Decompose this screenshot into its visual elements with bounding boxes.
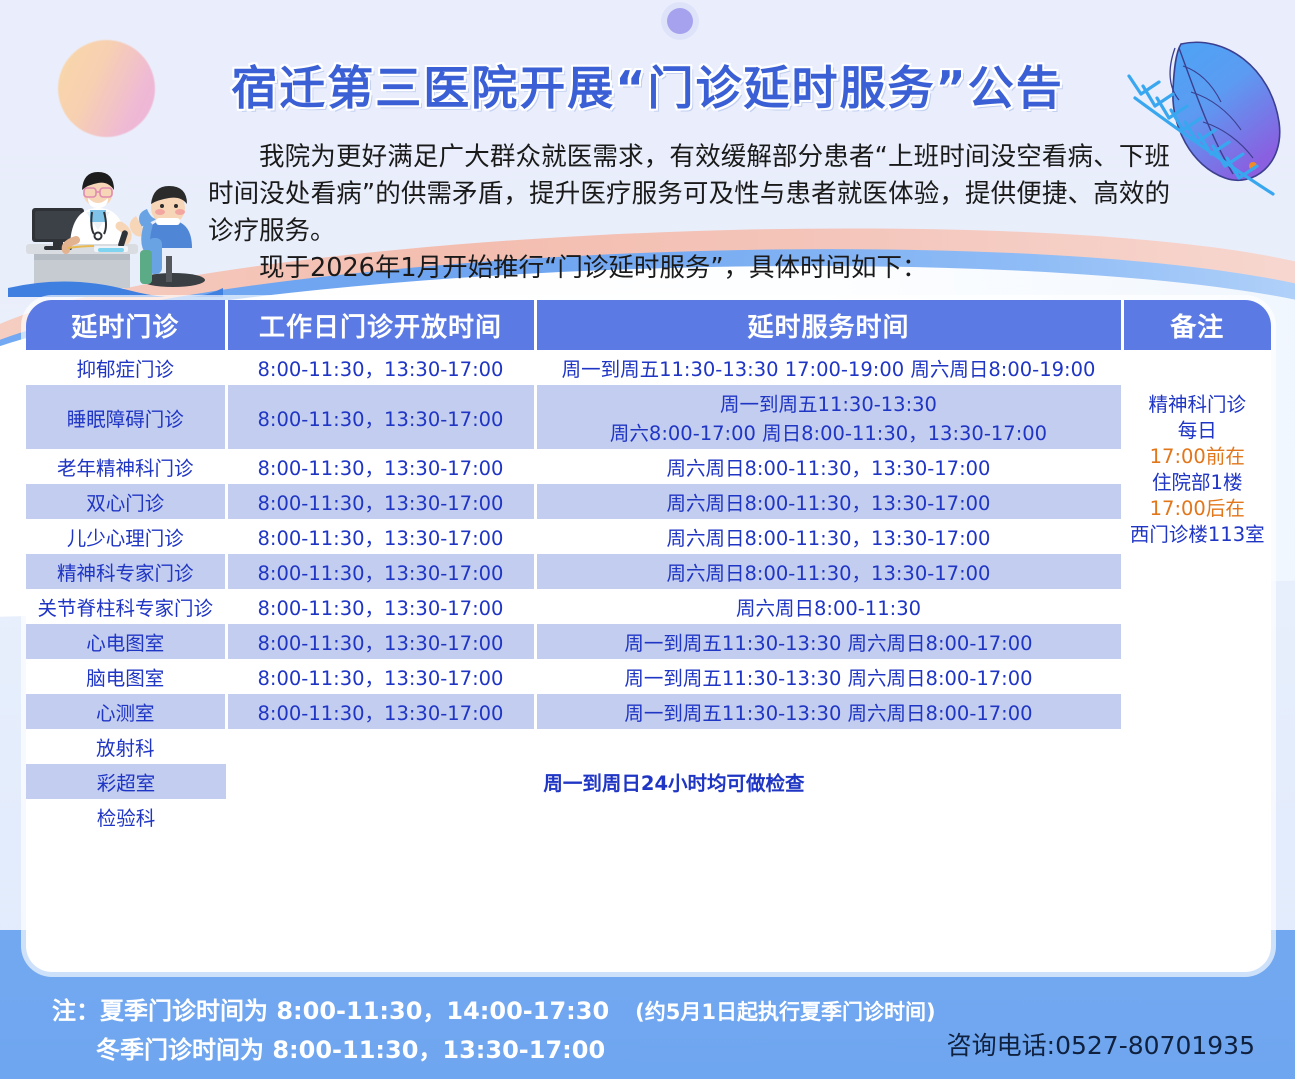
cell-remark: 精神科门诊 每日 17:00前在 住院部1楼 17:00后在 西门诊楼113室 [1122, 350, 1271, 589]
footer-note-winter: 冬季门诊时间为 8:00-11:30，13:30-17:00 [52, 1031, 605, 1069]
page-title: 宿迁第三医院开展“门诊延时服务”公告 [0, 52, 1295, 118]
schedule-table: 延时门诊 工作日门诊开放时间 延时服务时间 备注 抑郁症门诊 8:00-11:3… [26, 300, 1271, 834]
cell-extended-hours: 周一到周五11:30-13:30 周六周日8:00-17:00 [535, 694, 1122, 729]
cell-extended-hours: 周一到周五11:30-13:30 周六8:00-17:00 周日8:00-11:… [535, 385, 1122, 449]
cell-merged-note: 周一到周日24小时均可做检查 [226, 729, 1122, 834]
footer-note-label: 注： [52, 997, 100, 1025]
intro-paragraph-1: 我院为更好满足广大群众就医需求，有效缓解部分患者“上班时间没空看病、下班时间没处… [208, 139, 1170, 250]
column-header-weekday: 工作日门诊开放时间 [226, 300, 535, 350]
poster-root: 宿迁第三医院开展“门诊延时服务”公告 我院为更好满足广大群众就医需求，有效缓解部… [0, 0, 1295, 1079]
cell-dept: 双心门诊 [26, 484, 226, 519]
cell-extended-hours: 周六周日8:00-11:30，13:30-17:00 [535, 449, 1122, 484]
remark-line-2: 每日 [1126, 418, 1270, 444]
remark-line-1: 精神科门诊 [1126, 392, 1270, 418]
table-row: 关节脊柱科专家门诊 8:00-11:30，13:30-17:00 周六周日8:0… [26, 589, 1271, 624]
table-row: 双心门诊 8:00-11:30，13:30-17:00 周六周日8:00-11:… [26, 484, 1271, 519]
decorative-dot-purple [667, 8, 693, 34]
table-row: 放射科 周一到周日24小时均可做检查 [26, 729, 1271, 764]
table-header-row: 延时门诊 工作日门诊开放时间 延时服务时间 备注 [26, 300, 1271, 350]
cell-dept: 抑郁症门诊 [26, 350, 226, 385]
column-header-remark: 备注 [1122, 300, 1271, 350]
cell-dept: 儿少心理门诊 [26, 519, 226, 554]
cell-weekday-hours: 8:00-11:30，13:30-17:00 [226, 694, 535, 729]
column-header-dept: 延时门诊 [26, 300, 226, 350]
cell-weekday-hours: 8:00-11:30，13:30-17:00 [226, 385, 535, 449]
cell-extended-hours: 周六周日8:00-11:30，13:30-17:00 [535, 554, 1122, 589]
footer-note-summer: 夏季门诊时间为 8:00-11:30，14:00-17:30 [100, 997, 609, 1025]
cell-dept: 关节脊柱科专家门诊 [26, 589, 226, 624]
cell-weekday-hours: 8:00-11:30，13:30-17:00 [226, 589, 535, 624]
cell-dept: 睡眠障碍门诊 [26, 385, 226, 449]
cell-dept: 彩超室 [26, 764, 226, 799]
cell-extended-hours: 周六周日8:00-11:30，13:30-17:00 [535, 519, 1122, 554]
table-row: 心电图室 8:00-11:30，13:30-17:00 周一到周五11:30-1… [26, 624, 1271, 659]
table-row: 儿少心理门诊 8:00-11:30，13:30-17:00 周六周日8:00-1… [26, 519, 1271, 554]
doctor-patient-illustration-icon [8, 152, 223, 297]
remark-line-4: 住院部1楼 [1126, 470, 1270, 496]
cell-remark-empty [1122, 589, 1271, 834]
cell-weekday-hours: 8:00-11:30，13:30-17:00 [226, 350, 535, 385]
cell-weekday-hours: 8:00-11:30，13:30-17:00 [226, 449, 535, 484]
table-row: 睡眠障碍门诊 8:00-11:30，13:30-17:00 周一到周五11:30… [26, 385, 1271, 449]
remark-line-3: 17:00前在 [1126, 444, 1270, 470]
footer-note-winter-row: 冬季门诊时间为 8:00-11:30，13:30-17:00 [52, 1031, 936, 1069]
table-row: 老年精神科门诊 8:00-11:30，13:30-17:00 周六周日8:00-… [26, 449, 1271, 484]
cell-dept: 老年精神科门诊 [26, 449, 226, 484]
remark-line-5: 17:00后在 [1126, 496, 1270, 522]
cell-extended-hours: 周六周日8:00-11:30，13:30-17:00 [535, 484, 1122, 519]
cell-dept: 脑电图室 [26, 659, 226, 694]
footer-notes: 注：夏季门诊时间为 8:00-11:30，14:00-17:30(约5月1日起执… [52, 992, 936, 1069]
table-row: 心测室 8:00-11:30，13:30-17:00 周一到周五11:30-13… [26, 694, 1271, 729]
footer-note-summer-row: 注：夏季门诊时间为 8:00-11:30，14:00-17:30(约5月1日起执… [52, 992, 936, 1031]
cell-dept: 放射科 [26, 729, 226, 764]
intro-paragraph-2: 现于2026年1月开始推行“门诊延时服务”，具体时间如下： [208, 250, 1170, 287]
cell-extended-hours: 周一到周五11:30-13:30 周六周日8:00-17:00 [535, 659, 1122, 694]
cell-dept: 精神科专家门诊 [26, 554, 226, 589]
cell-extended-hours: 周一到周五11:30-13:30 周六周日8:00-17:00 [535, 624, 1122, 659]
cell-dept: 心电图室 [26, 624, 226, 659]
footer-note-summer-paren: (约5月1日起执行夏季门诊时间) [635, 1000, 935, 1024]
table-row: 精神科专家门诊 8:00-11:30，13:30-17:00 周六周日8:00-… [26, 554, 1271, 589]
schedule-table-container: 延时门诊 工作日门诊开放时间 延时服务时间 备注 抑郁症门诊 8:00-11:3… [26, 300, 1271, 972]
extended-line-2: 周六8:00-17:00 周日8:00-11:30，13:30-17:00 [539, 417, 1119, 446]
cell-extended-hours: 周一到周五11:30-13:30 17:00-19:00 周六周日8:00-19… [535, 350, 1122, 385]
cell-weekday-hours: 8:00-11:30，13:30-17:00 [226, 624, 535, 659]
table-row: 脑电图室 8:00-11:30，13:30-17:00 周一到周五11:30-1… [26, 659, 1271, 694]
cell-dept: 检验科 [26, 799, 226, 834]
extended-line-1: 周一到周五11:30-13:30 [539, 388, 1119, 417]
remark-line-6: 西门诊楼113室 [1126, 522, 1270, 548]
intro-paragraphs: 我院为更好满足广大群众就医需求，有效缓解部分患者“上班时间没空看病、下班时间没处… [208, 139, 1170, 287]
cell-dept: 心测室 [26, 694, 226, 729]
table-row: 抑郁症门诊 8:00-11:30，13:30-17:00 周一到周五11:30-… [26, 350, 1271, 385]
cell-weekday-hours: 8:00-11:30，13:30-17:00 [226, 659, 535, 694]
cell-extended-hours: 周六周日8:00-11:30 [535, 589, 1122, 624]
cell-weekday-hours: 8:00-11:30，13:30-17:00 [226, 484, 535, 519]
cell-weekday-hours: 8:00-11:30，13:30-17:00 [226, 519, 535, 554]
cell-weekday-hours: 8:00-11:30，13:30-17:00 [226, 554, 535, 589]
contact-phone: 咨询电话:0527-80701935 [947, 1026, 1255, 1062]
column-header-extended: 延时服务时间 [535, 300, 1122, 350]
